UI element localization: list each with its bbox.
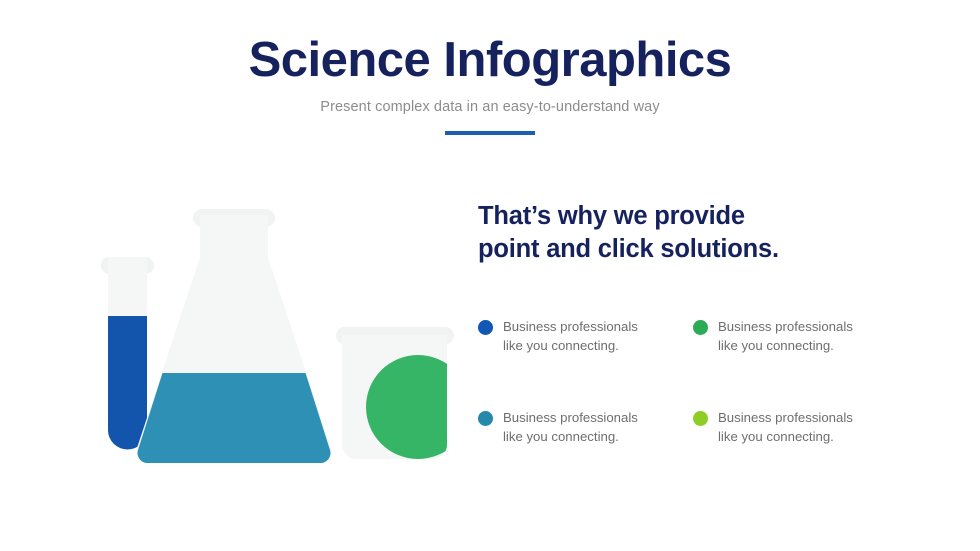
bullet-list: Business professionals like you connecti… <box>478 318 898 500</box>
list-item-label: Business professionals like you connecti… <box>503 318 638 355</box>
list-item: Business professionals like you connecti… <box>693 409 908 500</box>
bullet-dot-icon <box>693 411 708 426</box>
erlenmeyer-flask-icon <box>130 209 345 469</box>
content-block: That’s why we provide point and click so… <box>478 200 898 265</box>
title-accent-bar <box>445 131 535 135</box>
page-title: Science Infographics <box>0 34 980 87</box>
list-item: Business professionals like you connecti… <box>478 318 693 409</box>
list-item-label: Business professionals like you connecti… <box>718 409 853 446</box>
list-item: Business professionals like you connecti… <box>478 409 693 500</box>
bullet-dot-icon <box>478 411 493 426</box>
lab-glassware-illustration <box>95 195 465 470</box>
list-item-label: Business professionals like you connecti… <box>718 318 853 355</box>
page-subtitle: Present complex data in an easy-to-under… <box>0 99 980 115</box>
beaker-icon <box>336 327 465 459</box>
slide-header: Science Infographics Present complex dat… <box>0 34 980 135</box>
bullet-dot-icon <box>693 320 708 335</box>
content-heading: That’s why we provide point and click so… <box>478 200 898 265</box>
list-item-label: Business professionals like you connecti… <box>503 409 638 446</box>
bullet-dot-icon <box>478 320 493 335</box>
slide-canvas: Science Infographics Present complex dat… <box>0 0 980 551</box>
list-item: Business professionals like you connecti… <box>693 318 908 409</box>
